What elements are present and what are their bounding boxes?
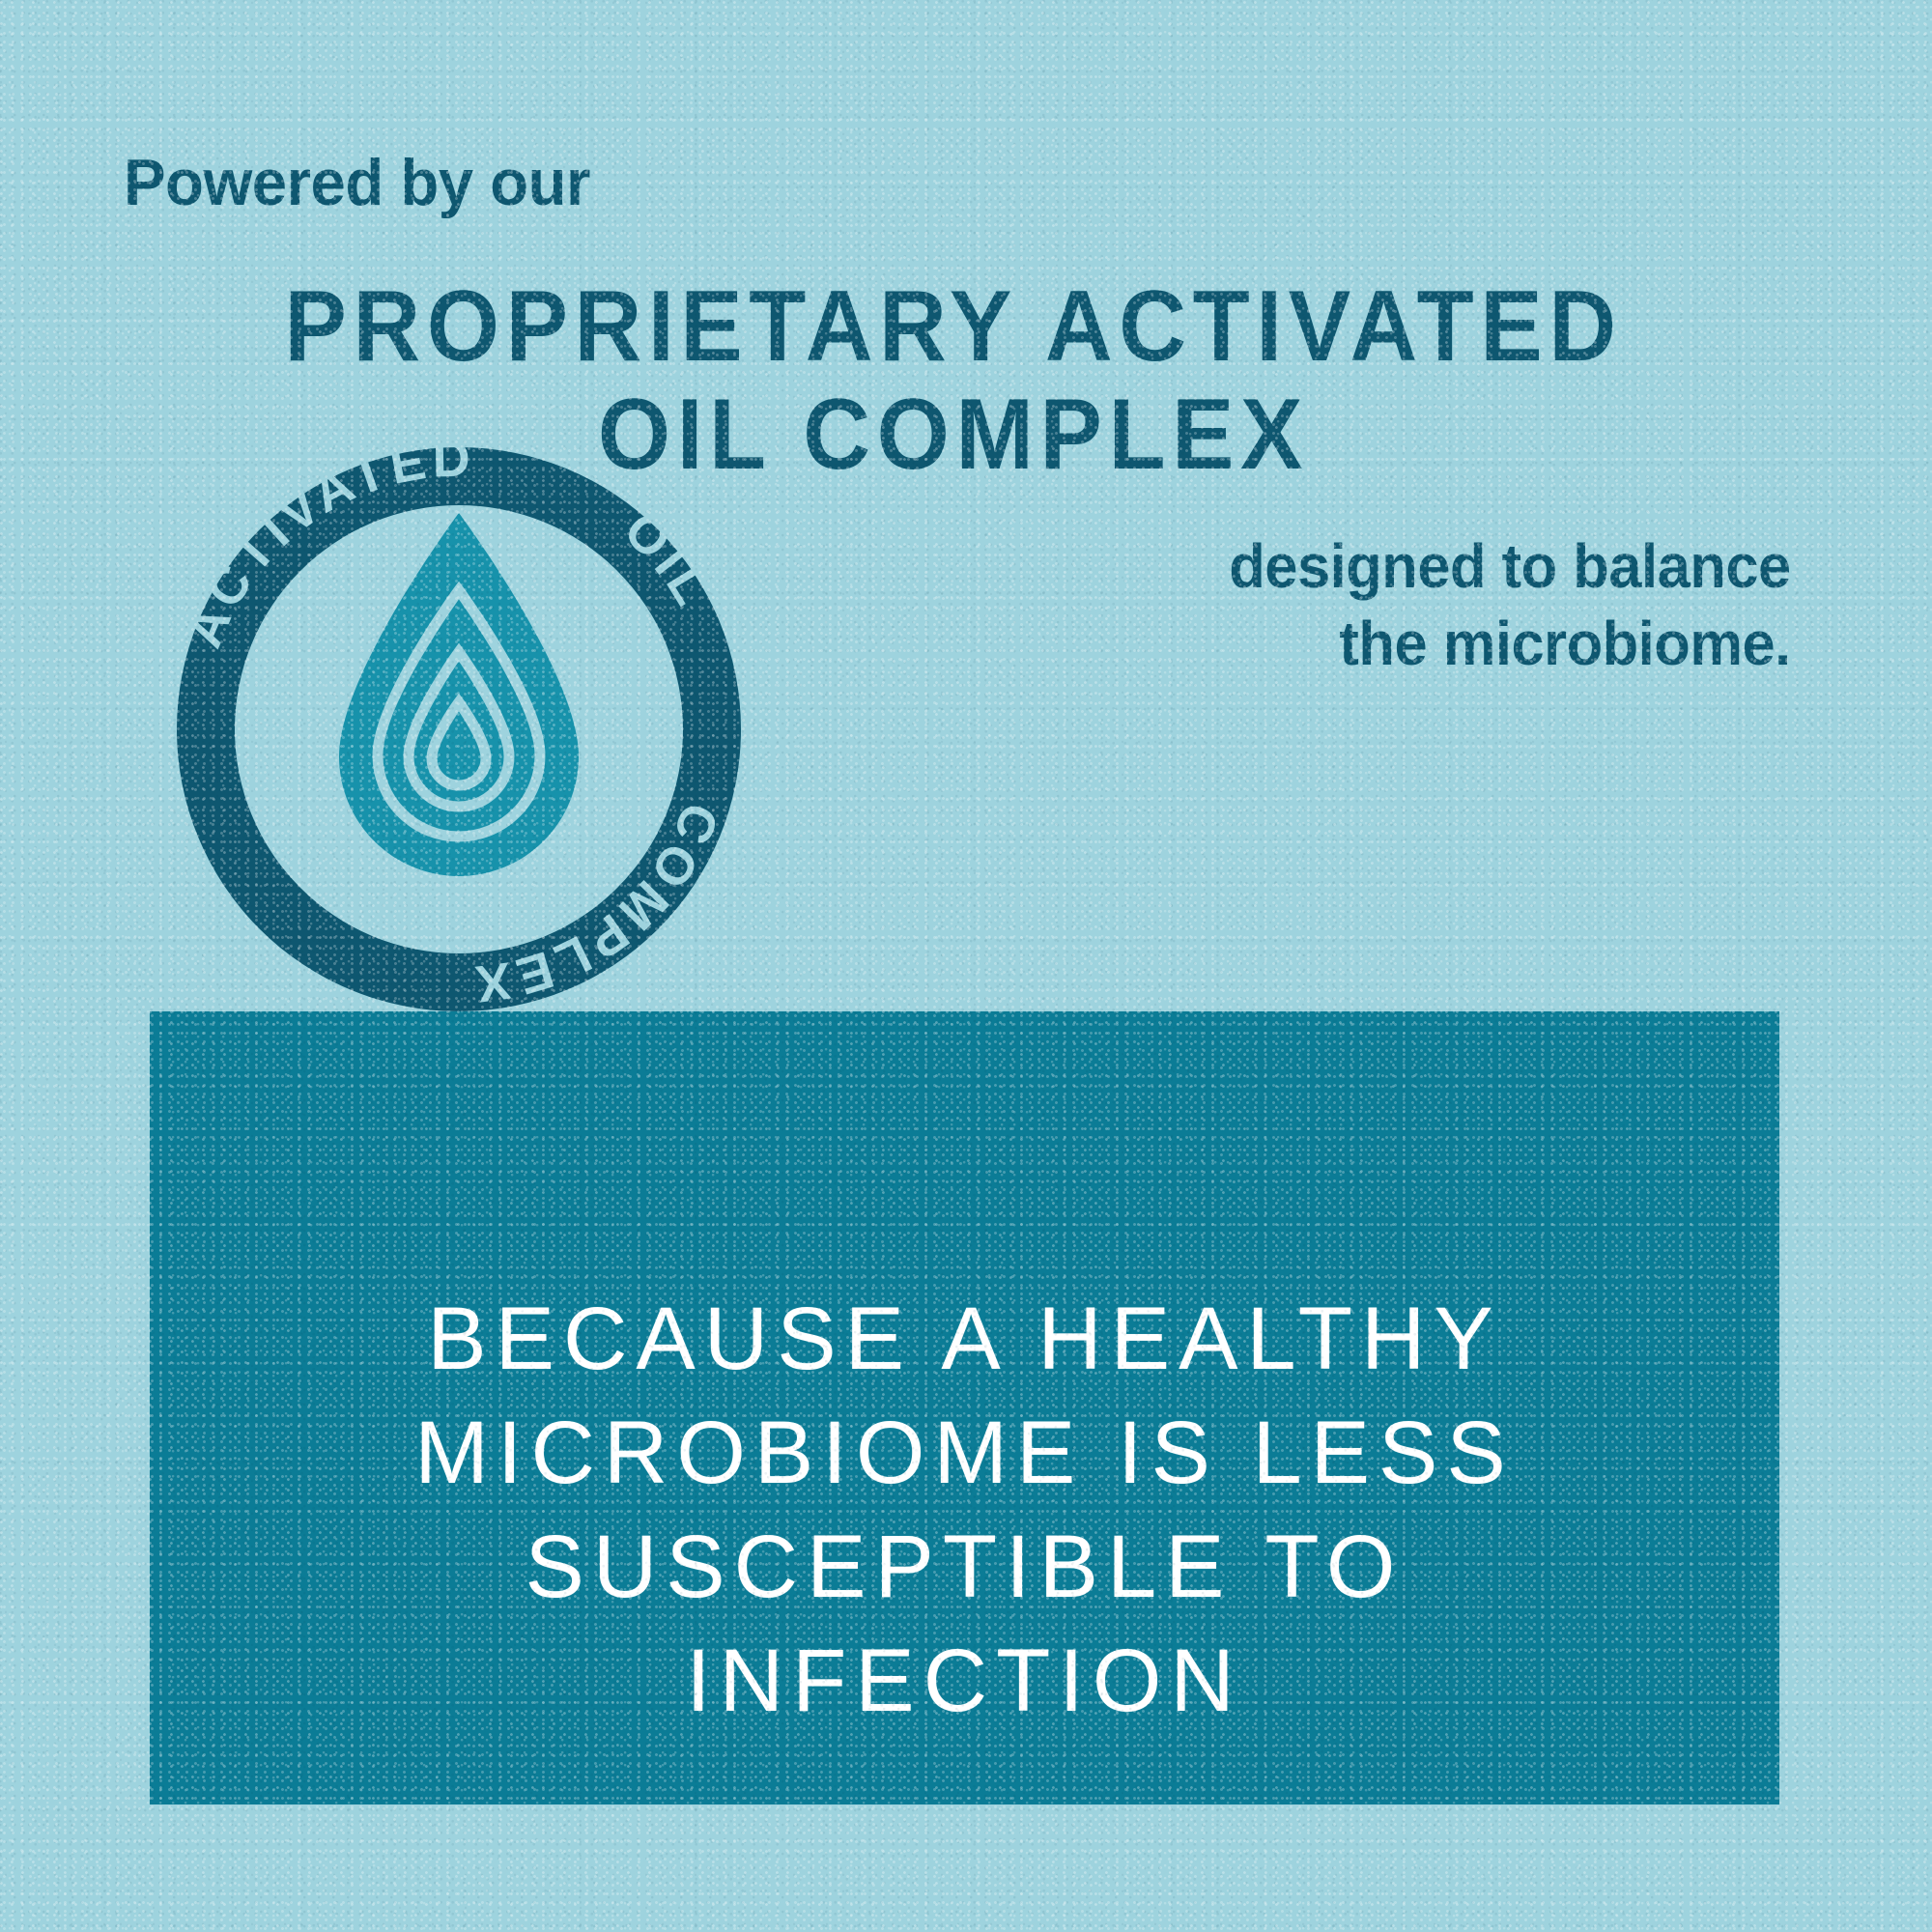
statement-line-2: MICROBIOME IS LESS [414,1396,1514,1510]
headline-line-1: PROPRIETARY ACTIVATED [68,272,1839,381]
subheading-line-1: designed to balance [1229,527,1791,605]
statement-text: BECAUSE A HEALTHY MICROBIOME IS LESS SUS… [150,1011,1779,1804]
activated-oil-complex-badge-icon: ACTIVATED OIL COMPLEX [150,420,768,1038]
subheading-line-2: the microbiome. [1229,605,1791,682]
statement-line-3: SUSCEPTIBLE TO [526,1510,1405,1624]
statement-line-4: INFECTION [686,1624,1243,1738]
promo-graphic: Powered by our PROPRIETARY ACTIVATED OIL… [0,0,1932,1932]
eyebrow-text: Powered by our [124,145,590,220]
subheading: designed to balance the microbiome. [1229,527,1791,682]
statement-line-1: BECAUSE A HEALTHY [427,1282,1502,1396]
